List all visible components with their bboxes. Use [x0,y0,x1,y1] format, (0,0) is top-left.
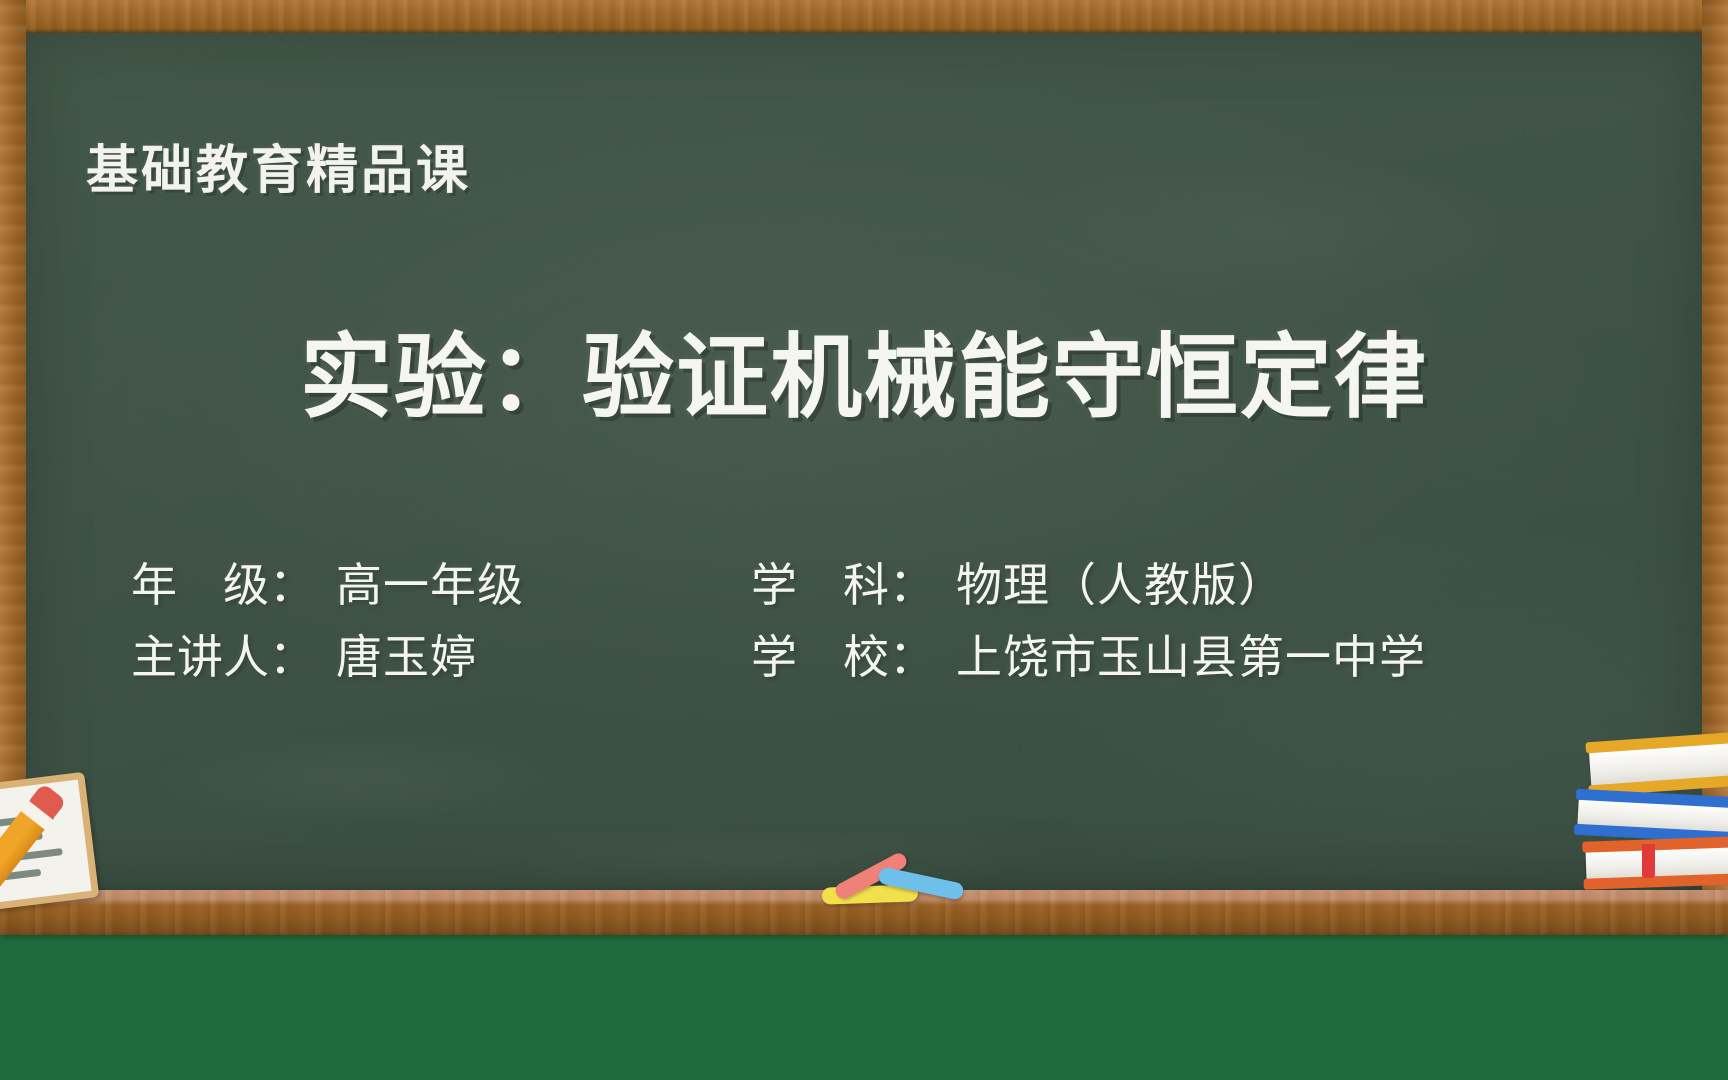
board-frame-left [0,0,26,890]
bookmark-icon [1642,844,1655,878]
chalk-sticks-icon [800,860,1000,905]
book-stack-icon [1564,740,1728,895]
meta-presenter-label: 主讲人： [131,621,336,687]
book-orange [1586,845,1728,880]
meta-presenter: 主讲人： 唐玉婷 [131,621,751,687]
lesson-metadata: 年 级： 高一年级 学 科： 物理（人教版） 主讲人： 唐玉婷 学 校： 上饶市… [131,546,1551,690]
meta-grade: 年 级： 高一年级 [131,549,751,615]
board-frame-top [0,0,1728,33]
bottom-backdrop [0,935,1728,1080]
chalk-smudge [146,733,566,823]
meta-subject-value: 物理（人教版） [956,549,1285,615]
page-title: 实验：验证机械能守恒定律 [26,303,1702,436]
meta-subject-label: 学 科： [751,549,956,615]
meta-subject: 学 科： 物理（人教版） [751,549,1551,615]
program-kicker: 基础教育精品课 [86,128,471,203]
meta-grade-label: 年 级： [131,549,336,615]
meta-grade-value: 高一年级 [336,549,524,615]
book-blue [1577,798,1728,834]
book-yellow [1589,741,1728,787]
meta-school-label: 学 校： [751,621,956,687]
meta-school: 学 校： 上饶市玉山县第一中学 [751,621,1551,687]
chalk-smudge [1006,153,1526,303]
chalkboard: 基础教育精品课 实验：验证机械能守恒定律 年 级： 高一年级 学 科： 物理（人… [26,33,1702,890]
meta-school-value: 上饶市玉山县第一中学 [956,621,1426,687]
notepad-icon [0,770,132,900]
title-slide: 基础教育精品课 实验：验证机械能守恒定律 年 级： 高一年级 学 科： 物理（人… [0,0,1728,1080]
meta-presenter-value: 唐玉婷 [336,621,477,687]
